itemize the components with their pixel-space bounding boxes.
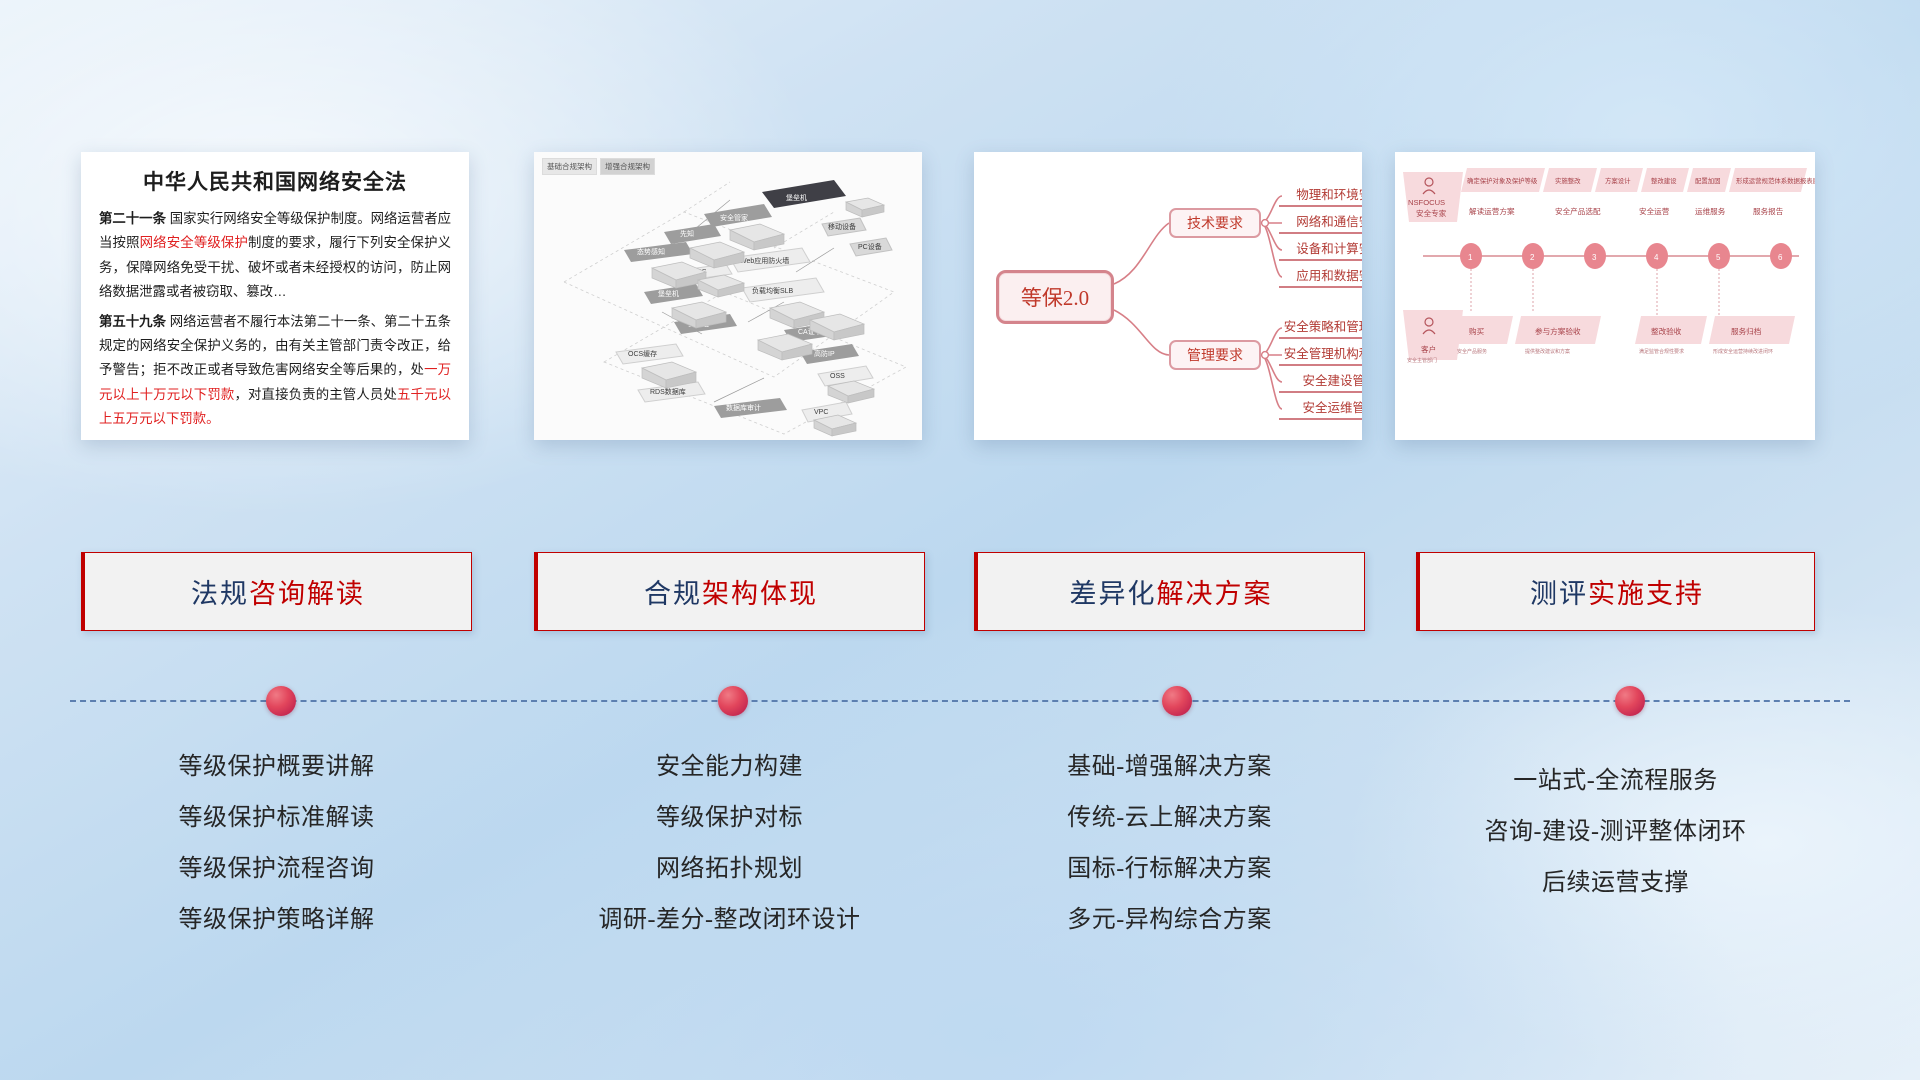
timeline-dot-4[interactable]	[1615, 686, 1645, 716]
timeline-dot-1[interactable]	[266, 686, 296, 716]
timeline-dot-2[interactable]	[718, 686, 748, 716]
list-item: 等级保护标准解读	[81, 793, 472, 844]
section-items-1: 等级保护概要讲解 等级保护标准解读 等级保护流程咨询 等级保护策略详解	[81, 742, 472, 946]
list-item: 国标-行标解决方案	[974, 844, 1365, 895]
section-items-3: 基础-增强解决方案 传统-云上解决方案 国标-行标解决方案 多元-异构综合方案	[974, 742, 1365, 946]
section-heading-3[interactable]: 差异化解决方案	[974, 552, 1365, 631]
list-item: 等级保护概要讲解	[81, 742, 472, 793]
section-heading-4-blue: 测评	[1530, 572, 1588, 611]
section-heading-1-blue: 法规	[191, 572, 249, 611]
list-item: 等级保护策略详解	[81, 895, 472, 946]
section-heading-4-red: 实施支持	[1588, 572, 1704, 611]
section-items-2: 安全能力构建 等级保护对标 网络拓扑规划 调研-差分-整改闭环设计	[534, 742, 925, 946]
list-item: 一站式-全流程服务	[1416, 756, 1815, 807]
section-heading-2-blue: 合规	[644, 572, 702, 611]
section-heading-3-blue: 差异化	[1070, 572, 1157, 611]
list-item: 调研-差分-整改闭环设计	[534, 895, 925, 946]
section-heading-2[interactable]: 合规架构体现	[534, 552, 925, 631]
list-item: 安全能力构建	[534, 742, 925, 793]
list-item: 传统-云上解决方案	[974, 793, 1365, 844]
section-heading-1[interactable]: 法规咨询解读	[81, 552, 472, 631]
section-heading-4[interactable]: 测评实施支持	[1416, 552, 1815, 631]
list-item: 咨询-建设-测评整体闭环	[1416, 807, 1815, 858]
list-item: 多元-异构综合方案	[974, 895, 1365, 946]
list-item: 基础-增强解决方案	[974, 742, 1365, 793]
timeline-dashed-line	[70, 700, 1850, 702]
slide-root: 中华人民共和国网络安全法 第二十一条 国家实行网络安全等级保护制度。网络运营者应…	[0, 0, 1920, 1080]
timeline	[70, 700, 1850, 704]
list-item: 等级保护对标	[534, 793, 925, 844]
section-heading-1-red: 咨询解读	[249, 572, 365, 611]
list-item: 等级保护流程咨询	[81, 844, 472, 895]
list-item: 网络拓扑规划	[534, 844, 925, 895]
section-heading-3-red: 解决方案	[1157, 572, 1273, 611]
timeline-dot-3[interactable]	[1162, 686, 1192, 716]
section-heading-2-red: 架构体现	[702, 572, 818, 611]
section-items-4: 一站式-全流程服务 咨询-建设-测评整体闭环 后续运营支撑	[1416, 756, 1815, 909]
section-item-lists: 等级保护概要讲解 等级保护标准解读 等级保护流程咨询 等级保护策略详解 安全能力…	[0, 742, 1920, 922]
list-item: 后续运营支撑	[1416, 858, 1815, 909]
